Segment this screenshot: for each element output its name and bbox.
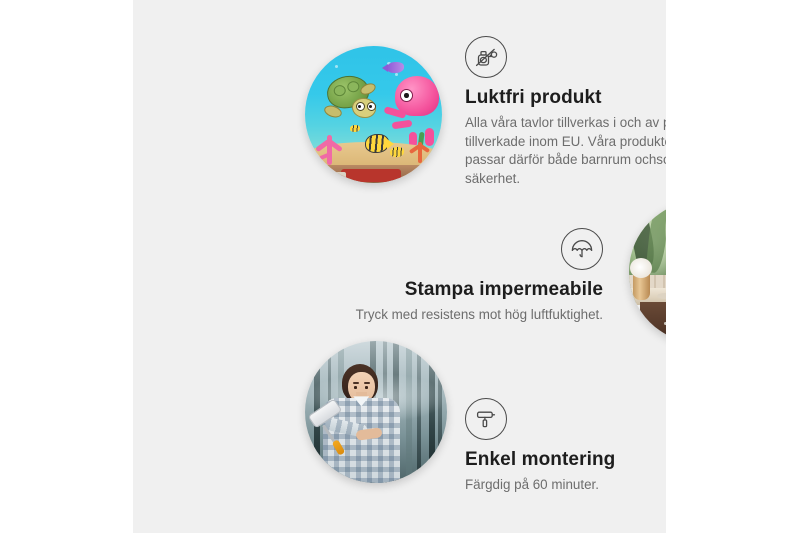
icon-wrap — [313, 228, 603, 270]
feature-panel: Luktfri produkt Alla våra tavlor tillver… — [133, 0, 666, 533]
octopus-eye-icon — [400, 89, 413, 102]
feature-title: Stampa impermeabile — [313, 279, 603, 301]
wooden-vanity — [640, 302, 666, 343]
feature-body: Tryck med resistens mot hög luftfuktighe… — [313, 306, 603, 325]
umbrella-icon — [561, 228, 603, 270]
pink-coral-icon — [313, 135, 347, 167]
furniture-in-room — [327, 172, 346, 182]
feature-easy-mounting: Enkel montering Färgdig på 60 minuter. — [465, 398, 666, 495]
paint-roller-icon — [465, 398, 507, 440]
feature-title: Luktfri produkt — [465, 87, 666, 109]
underwater-kids-mural-thumbnail[interactable] — [305, 46, 442, 183]
white-flower-icon — [630, 258, 652, 278]
feature-odour-free: Luktfri produkt Alla våra tavlor tillver… — [465, 36, 666, 188]
icon-wrap — [465, 36, 666, 78]
turtle-eye-icon — [356, 102, 365, 111]
installer-forest-thumbnail[interactable] — [305, 341, 447, 483]
feature-body: Alla våra tavlor tillverkas i och av pro… — [465, 114, 666, 188]
feature-body: Färgdig på 60 minuter. — [465, 476, 666, 495]
drawer-handle — [664, 322, 666, 325]
feature-waterproof: Stampa impermeabile Tryck med resistens … — [313, 228, 603, 325]
feature-title: Enkel montering — [465, 449, 666, 471]
bed-in-room — [341, 169, 401, 181]
turtle-eye-icon — [367, 102, 376, 111]
yellow-fish-icon — [365, 134, 389, 153]
icon-wrap — [465, 398, 666, 440]
bathroom-tropical-leaves-thumbnail[interactable] — [629, 201, 666, 343]
no-perfume-icon — [465, 36, 507, 78]
red-coral-icon — [408, 140, 434, 164]
promo-page: Luktfri produkt Alla våra tavlor tillver… — [0, 0, 800, 533]
soap-dish — [657, 293, 666, 299]
